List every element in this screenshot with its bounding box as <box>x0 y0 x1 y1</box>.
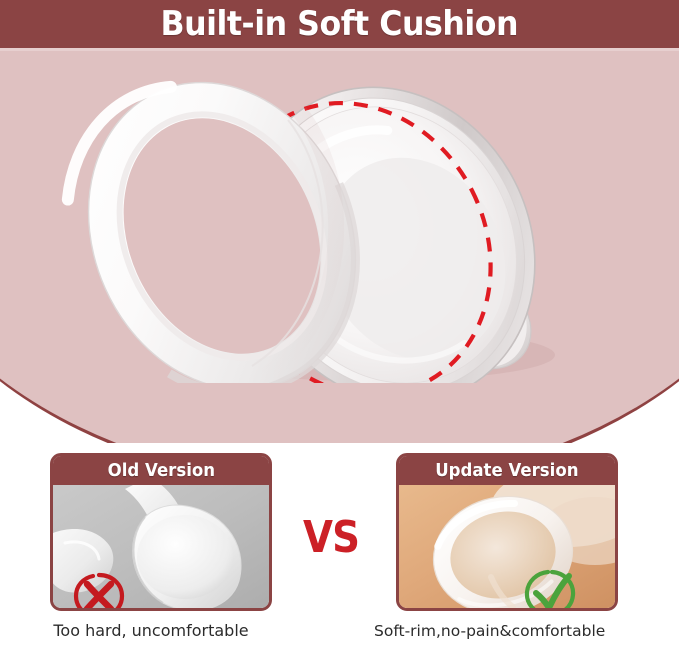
page-title: Built-in Soft Cushion <box>161 7 519 41</box>
old-version-header: Old Version <box>53 456 269 485</box>
title-banner: Built-in Soft Cushion <box>0 0 679 48</box>
old-version-card[interactable]: Old Version <box>50 453 272 641</box>
old-version-caption: Too hard, uncomfortable <box>40 621 262 641</box>
cross-badge <box>71 571 127 611</box>
old-version-header-label: Old Version <box>107 462 214 480</box>
update-version-photo <box>399 485 615 608</box>
update-version-header-label: Update Version <box>435 462 578 480</box>
comparison-section: Old Version <box>0 443 679 671</box>
update-version-frame: Update Version <box>396 453 618 611</box>
product-infographic: Built-in Soft Cushion <box>0 0 679 671</box>
old-version-frame: Old Version <box>50 453 272 611</box>
check-badge <box>521 568 579 611</box>
update-version-header: Update Version <box>399 456 615 485</box>
update-version-card[interactable]: Update Version <box>396 453 618 641</box>
banner-underline <box>0 48 679 51</box>
product-photo <box>0 0 679 395</box>
update-version-caption: Soft-rim,no-pain&comfortable <box>374 621 596 641</box>
vs-label: VS <box>303 516 359 560</box>
